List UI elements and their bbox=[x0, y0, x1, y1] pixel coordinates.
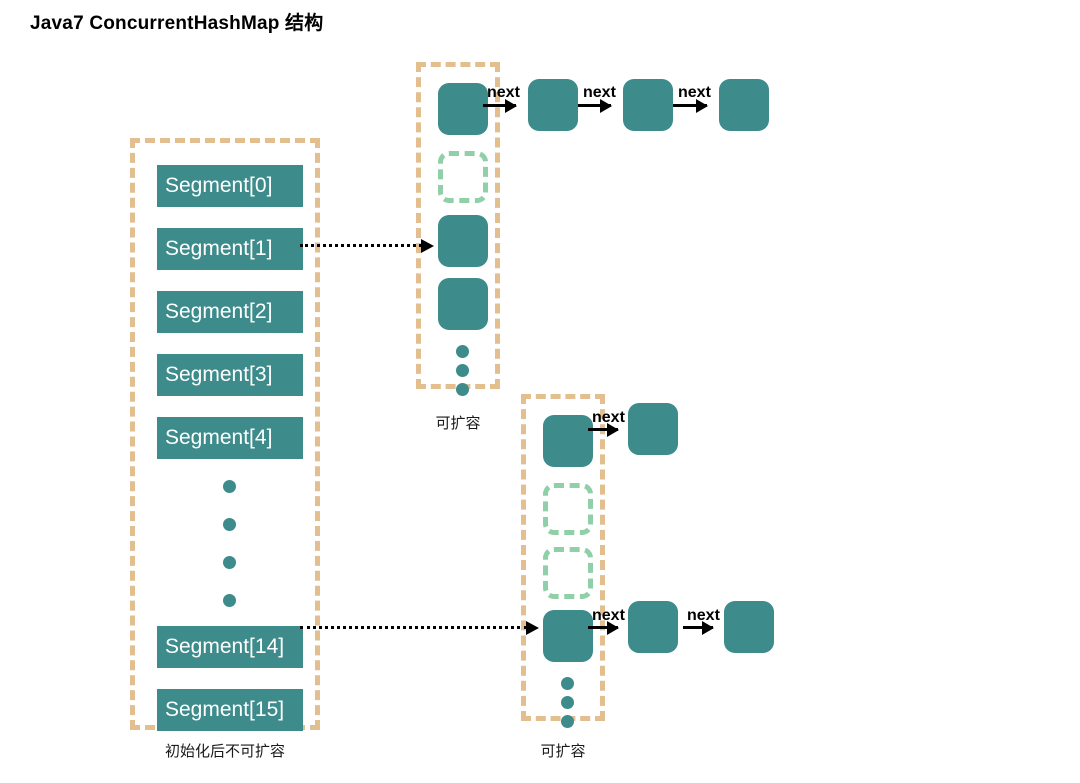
bucket-empty-slot-bottom-2[interactable] bbox=[543, 547, 593, 599]
segment-array-caption: 初始化后不可扩容 bbox=[130, 740, 320, 761]
link-arrow-segment1-to-bucket-top bbox=[300, 244, 422, 247]
next-arrow-top-1 bbox=[483, 104, 516, 107]
bucket-table-bottom-container bbox=[521, 394, 605, 721]
next-arrow-bottom-low-2 bbox=[683, 626, 713, 629]
bucket-table-top-caption: 可扩容 bbox=[392, 412, 524, 433]
bucket-ellipsis-dot-bottom-2 bbox=[561, 696, 574, 709]
bucket-node-top-2[interactable] bbox=[438, 215, 488, 267]
segment-ellipsis-dot-3 bbox=[223, 556, 236, 569]
segment-box-15[interactable]: Segment[15] bbox=[157, 689, 303, 731]
chain-node-bottom-low-2[interactable] bbox=[724, 601, 774, 653]
next-label-bottom-top-1: next bbox=[592, 409, 625, 427]
segment-ellipsis-dot-2 bbox=[223, 518, 236, 531]
segment-box-1[interactable]: Segment[1] bbox=[157, 228, 303, 270]
next-label-bottom-low-1: next bbox=[592, 607, 625, 625]
segment-ellipsis-dot-1 bbox=[223, 480, 236, 493]
bucket-node-bottom-3[interactable] bbox=[543, 610, 593, 662]
next-label-top-3: next bbox=[678, 84, 711, 102]
next-label-top-2: next bbox=[583, 84, 616, 102]
segment-box-4[interactable]: Segment[4] bbox=[157, 417, 303, 459]
next-label-bottom-low-2: next bbox=[687, 607, 720, 625]
chain-node-bottom-low-1[interactable] bbox=[628, 601, 678, 653]
segment-box-2[interactable]: Segment[2] bbox=[157, 291, 303, 333]
next-label-top-1: next bbox=[487, 84, 520, 102]
segment-array-container: Segment[0] Segment[1] Segment[2] Segment… bbox=[130, 138, 320, 730]
next-arrow-top-3 bbox=[673, 104, 707, 107]
next-arrow-bottom-top-1 bbox=[588, 428, 618, 431]
bucket-ellipsis-dot-top-1 bbox=[456, 345, 469, 358]
next-arrow-top-2 bbox=[578, 104, 611, 107]
bucket-ellipsis-dot-bottom-1 bbox=[561, 677, 574, 690]
bucket-table-bottom-caption: 可扩容 bbox=[497, 740, 629, 761]
segment-box-3[interactable]: Segment[3] bbox=[157, 354, 303, 396]
bucket-empty-slot-bottom-1[interactable] bbox=[543, 483, 593, 535]
bucket-ellipsis-dot-bottom-3 bbox=[561, 715, 574, 728]
segment-box-0[interactable]: Segment[0] bbox=[157, 165, 303, 207]
chain-node-top-3[interactable] bbox=[719, 79, 769, 131]
chain-node-top-2[interactable] bbox=[623, 79, 673, 131]
bucket-node-bottom-0[interactable] bbox=[543, 415, 593, 467]
bucket-node-top-0[interactable] bbox=[438, 83, 488, 135]
bucket-ellipsis-dot-top-3 bbox=[456, 383, 469, 396]
segment-box-14[interactable]: Segment[14] bbox=[157, 626, 303, 668]
segment-ellipsis-dot-4 bbox=[223, 594, 236, 607]
next-arrow-bottom-low-1 bbox=[588, 626, 618, 629]
link-arrow-segment14-to-bucket-bottom bbox=[300, 626, 527, 629]
chain-node-bottom-top-1[interactable] bbox=[628, 403, 678, 455]
chain-node-top-1[interactable] bbox=[528, 79, 578, 131]
bucket-ellipsis-dot-top-2 bbox=[456, 364, 469, 377]
bucket-table-top-container bbox=[416, 62, 500, 389]
bucket-node-top-3[interactable] bbox=[438, 278, 488, 330]
page-title: Java7 ConcurrentHashMap 结构 bbox=[30, 8, 323, 35]
bucket-empty-slot-top-1[interactable] bbox=[438, 151, 488, 203]
